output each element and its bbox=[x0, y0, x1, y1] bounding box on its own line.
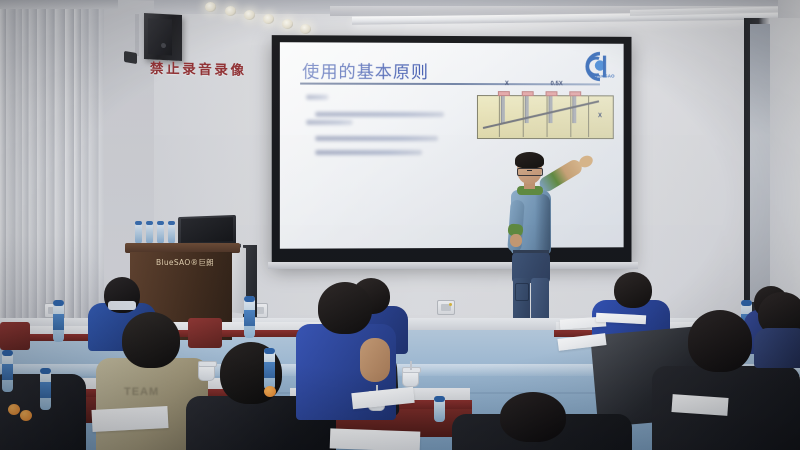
handout-paper bbox=[330, 428, 421, 450]
blinds-rail bbox=[0, 0, 118, 9]
door-glass bbox=[750, 24, 770, 302]
ceiling-spotlight bbox=[300, 24, 311, 34]
screen-bottom-rail bbox=[268, 262, 638, 269]
classroom-photo: 禁止录音录像 使用的基本原则 BlueSAO bbox=[0, 0, 800, 450]
water-bottle bbox=[40, 368, 51, 410]
person-head bbox=[614, 272, 652, 308]
person-arm bbox=[360, 338, 390, 382]
podium-brand-plate: BlueSAO®巨朗 bbox=[148, 256, 222, 269]
diagram-label-half-x: 0.5X bbox=[551, 81, 563, 87]
water-bottle bbox=[434, 396, 445, 422]
blind-slat bbox=[16, 4, 22, 334]
blind-slat bbox=[22, 4, 28, 334]
handout-paper bbox=[91, 406, 168, 432]
wall-speaker bbox=[144, 13, 182, 61]
diagram-label-x-right: X bbox=[598, 113, 602, 119]
water-bottle bbox=[135, 221, 142, 244]
blind-slat bbox=[65, 4, 74, 334]
bluesao-logo-text: BlueSAO bbox=[594, 73, 615, 78]
speaker-tweeter bbox=[161, 43, 166, 48]
blind-slat bbox=[29, 4, 37, 334]
chair bbox=[0, 322, 30, 350]
water-bottle bbox=[264, 348, 275, 390]
diagram-label-x-left: X bbox=[505, 81, 509, 87]
water-bottle bbox=[146, 221, 153, 244]
slide-body-text bbox=[306, 95, 472, 164]
blind-slat bbox=[74, 4, 80, 334]
presenter-hair bbox=[515, 152, 544, 168]
blind-slat bbox=[46, 4, 54, 334]
paper-cup bbox=[402, 368, 419, 387]
blind-slat bbox=[0, 4, 6, 334]
audience-member bbox=[758, 292, 800, 352]
blind-slat bbox=[55, 4, 64, 334]
person-head bbox=[688, 310, 752, 372]
presenter-hand bbox=[510, 234, 522, 247]
water-bottle bbox=[157, 221, 164, 244]
ceiling-spotlight bbox=[225, 6, 236, 16]
ceiling-spotlight bbox=[282, 19, 293, 29]
speaker-grille bbox=[148, 18, 172, 55]
blind-slat bbox=[6, 4, 15, 334]
slide-title: 使用的基本原则 bbox=[302, 57, 429, 83]
water-bottle bbox=[53, 300, 64, 342]
person-head bbox=[122, 312, 180, 368]
ceiling-spotlight bbox=[244, 10, 255, 20]
tangerine bbox=[264, 386, 276, 397]
slide-diagram: X 0.5X X bbox=[477, 81, 612, 143]
ceiling-spotlight bbox=[205, 2, 216, 12]
power-outlet bbox=[437, 300, 455, 315]
no-recording-sign: 禁止录音录像 bbox=[150, 57, 260, 79]
audience-member bbox=[452, 392, 632, 450]
paper-cup bbox=[198, 362, 215, 381]
ceiling-spotlight bbox=[263, 14, 274, 24]
water-bottle bbox=[2, 350, 13, 392]
blind-slat bbox=[37, 4, 45, 334]
person-head bbox=[318, 282, 372, 334]
person-torso bbox=[754, 328, 800, 368]
water-bottle bbox=[244, 296, 255, 338]
wall-conduit bbox=[135, 14, 139, 56]
tangerine bbox=[20, 410, 32, 421]
water-bottle bbox=[168, 221, 175, 244]
handout-paper bbox=[671, 394, 728, 416]
person-head bbox=[500, 392, 566, 442]
tangerine bbox=[8, 404, 20, 415]
laptop-screen bbox=[181, 217, 233, 243]
projection-screen: 使用的基本原则 BlueSAO X 0.5X bbox=[272, 35, 632, 265]
security-camera bbox=[124, 51, 137, 64]
